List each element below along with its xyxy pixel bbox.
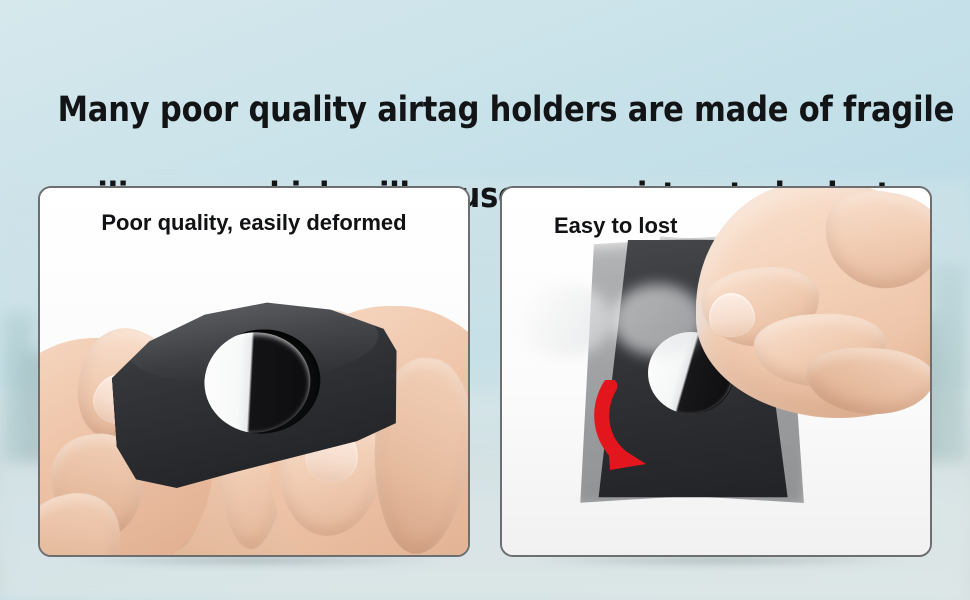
falling-arrow-icon [594, 380, 678, 472]
photo-poor-quality [40, 188, 468, 555]
panel-easy-to-lost[interactable]: Easy to lost [500, 186, 932, 557]
headline-line-1: Many poor quality airtag holders are mad… [58, 90, 955, 130]
fingernail [707, 291, 757, 340]
promo-banner: Many poor quality airtag holders are mad… [0, 0, 970, 600]
airtag-motion-ghost [612, 284, 704, 356]
thumb [817, 186, 932, 298]
panel-poor-quality[interactable]: Poor quality, easily deformed [38, 186, 470, 557]
photo-easy-to-lost [502, 188, 930, 555]
ring-finger [804, 345, 932, 418]
airtag-motion-ghost [520, 284, 612, 356]
building [4, 312, 34, 462]
holding-hand [696, 186, 932, 418]
